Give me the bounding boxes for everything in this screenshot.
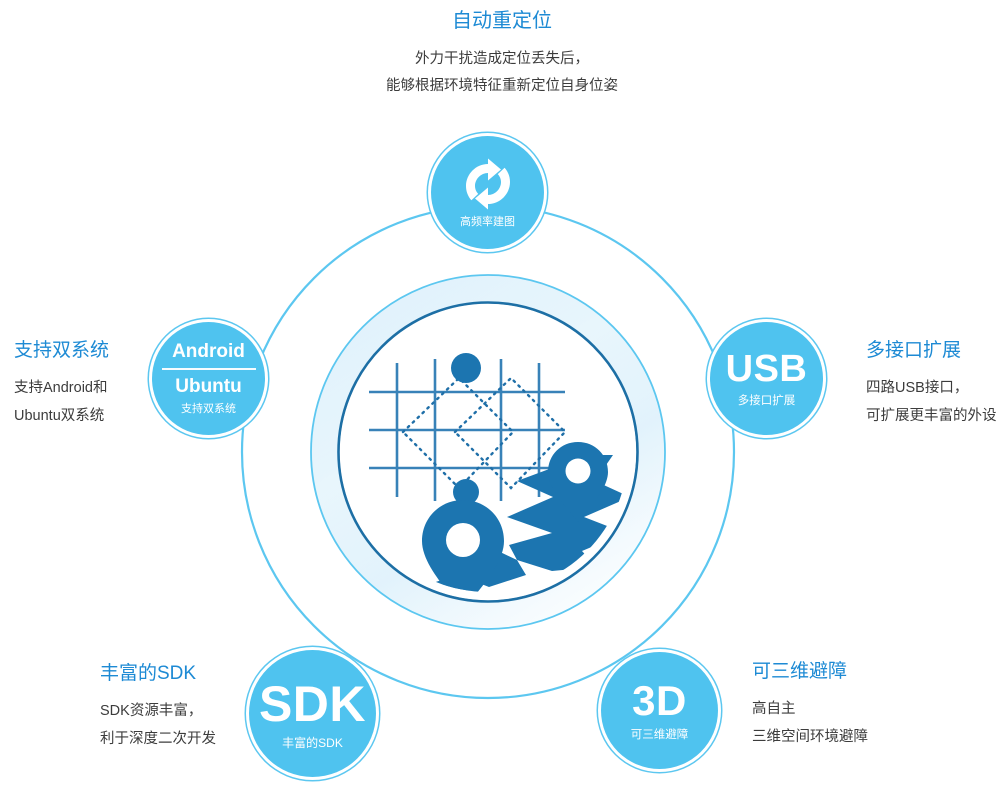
inner-gradient-ring (311, 275, 665, 629)
waypoint-dot-bottom (453, 479, 479, 505)
map-pin-small (548, 442, 608, 522)
waypoint-dot-top (451, 353, 481, 383)
infographic-stage: 自动重定位 外力干扰造成定位丢失后， 能够根据环境特征重新定位自身位姿 支持双系… (0, 0, 1004, 786)
node-left-os-secondary: Ubuntu (175, 377, 241, 396)
bottom-right-text-block: 可三维避障 高自主 三维空间环境避障 (752, 659, 868, 751)
left-line-2: Ubuntu双系统 (14, 402, 109, 430)
right-text-block: 多接口扩展 四路USB接口， 可扩展更丰富的外设 (866, 338, 997, 430)
left-line-1: 支持Android和 (14, 374, 109, 402)
node-dual-os[interactable]: Android Ubuntu 支持双系统 (152, 322, 265, 435)
node-sdk-main: SDK (259, 679, 366, 729)
map-pin-large (422, 500, 504, 610)
bottom-right-title: 可三维避障 (752, 659, 868, 685)
header-line-1: 外力干扰造成定位丢失后， (0, 46, 1004, 73)
node-top-caption: 高频率建图 (460, 217, 515, 228)
dotted-diamond-path (403, 378, 565, 488)
left-title: 支持双系统 (14, 338, 109, 364)
os-divider (162, 368, 256, 370)
left-text-block: 支持双系统 支持Android和 Ubuntu双系统 (14, 338, 109, 430)
map-navigation-illustration (369, 353, 630, 610)
bottom-left-line-2: 利于深度二次开发 (100, 725, 216, 753)
node-sdk-caption: 丰富的SDK (282, 737, 343, 749)
node-3d-main: 3D (632, 680, 687, 722)
node-sdk[interactable]: SDK 丰富的SDK (249, 650, 376, 777)
bottom-left-line-1: SDK资源丰富， (100, 697, 216, 725)
right-line-2: 可扩展更丰富的外设 (866, 402, 997, 430)
bottom-left-text-block: 丰富的SDK SDK资源丰富， 利于深度二次开发 (100, 661, 216, 753)
header-text-block: 自动重定位 外力干扰造成定位丢失后， 能够根据环境特征重新定位自身位姿 (0, 8, 1004, 100)
node-right-caption: 多接口扩展 (738, 396, 796, 408)
zigzag-route (424, 455, 630, 601)
node-left-caption: 支持双系统 (181, 404, 236, 415)
node-3d-caption: 可三维避障 (631, 730, 689, 742)
bottom-right-line-2: 三维空间环境避障 (752, 723, 868, 751)
right-title: 多接口扩展 (866, 338, 997, 364)
outer-connector-ring (242, 206, 734, 698)
header-title: 自动重定位 (0, 8, 1004, 34)
bottom-left-title: 丰富的SDK (100, 661, 216, 687)
refresh-sync-icon (460, 158, 516, 210)
header-line-2: 能够根据环境特征重新定位自身位姿 (0, 73, 1004, 100)
node-right-main: USB (726, 350, 808, 388)
right-line-1: 四路USB接口， (866, 374, 997, 402)
bottom-right-line-1: 高自主 (752, 695, 868, 723)
node-high-frequency-mapping[interactable]: 高频率建图 (431, 136, 544, 249)
node-3d-obstacle-avoidance[interactable]: 3D 可三维避障 (601, 652, 718, 769)
node-left-os-primary: Android (172, 342, 245, 361)
grid-lines (369, 359, 565, 501)
node-usb-ports[interactable]: USB 多接口扩展 (710, 322, 823, 435)
